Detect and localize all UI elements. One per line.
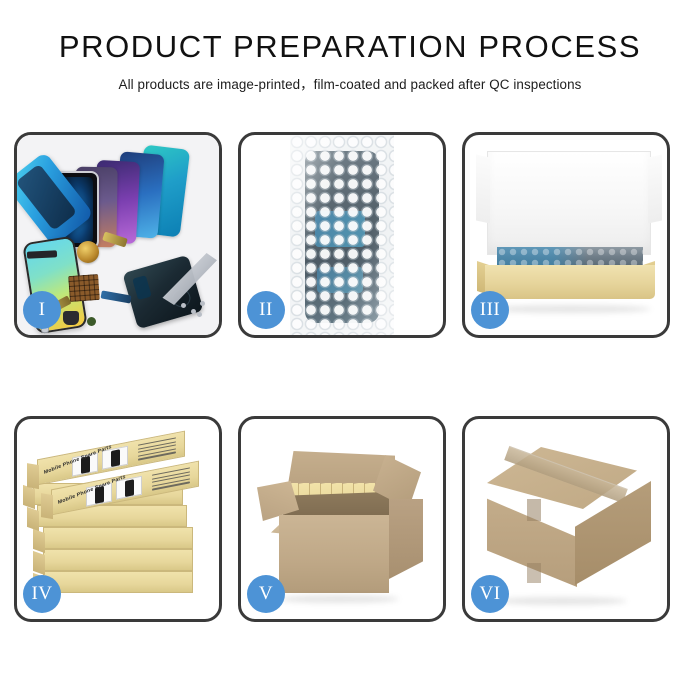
infographic-header: PRODUCT PREPARATION PROCESS All products… <box>0 0 700 93</box>
sealed-carton <box>479 439 657 607</box>
box-lid-icon <box>487 151 651 255</box>
step-badge: III <box>471 291 509 329</box>
carton-front <box>279 515 389 593</box>
box-side <box>33 551 45 575</box>
box-side <box>23 485 35 509</box>
page-subtitle: All products are image-printed，film-coat… <box>0 73 700 93</box>
page-title: PRODUCT PREPARATION PROCESS <box>0 30 700 64</box>
step-panel-6: VI <box>462 416 670 622</box>
step-panel-5: V <box>238 416 446 622</box>
box-side <box>33 529 45 553</box>
step-panel-3: III <box>462 132 670 338</box>
drop-shadow <box>497 597 627 605</box>
drop-shadow <box>279 595 399 603</box>
step-panel-1: I <box>14 132 222 338</box>
box-side <box>27 507 39 531</box>
step-badge: IV <box>23 575 61 613</box>
speaker-component-icon <box>63 311 79 325</box>
carton-side <box>389 499 423 579</box>
bubble-wrap-sleeve <box>290 135 394 335</box>
step-panel-4: Mobile Phone Spare Parts Mobile Phone Sp… <box>14 416 222 622</box>
step-badge: II <box>247 291 285 329</box>
box-side <box>27 463 39 489</box>
carton-seam <box>527 499 541 521</box>
step-badge: V <box>247 575 285 613</box>
screws-icon <box>181 301 207 317</box>
kraft-box-base <box>485 265 655 299</box>
product-swatch <box>125 479 134 497</box>
box-spec-lines <box>138 437 176 462</box>
box-spec-lines <box>152 467 190 492</box>
chip-board-icon <box>68 274 100 302</box>
step-badge: VI <box>471 575 509 613</box>
coil-component-icon <box>77 241 99 263</box>
drop-shadow <box>489 305 651 313</box>
box-side <box>41 493 53 519</box>
process-steps-grid: I II III <box>14 132 686 622</box>
stacked-box <box>43 527 193 549</box>
product-swatch <box>111 449 120 467</box>
stacked-box <box>43 571 193 593</box>
step-panel-2: II <box>238 132 446 338</box>
carton-seam <box>527 563 541 583</box>
step-badge: I <box>23 291 61 329</box>
small-part-icon <box>87 317 96 326</box>
plastic-sheen <box>290 135 394 335</box>
stacked-box <box>43 549 193 571</box>
